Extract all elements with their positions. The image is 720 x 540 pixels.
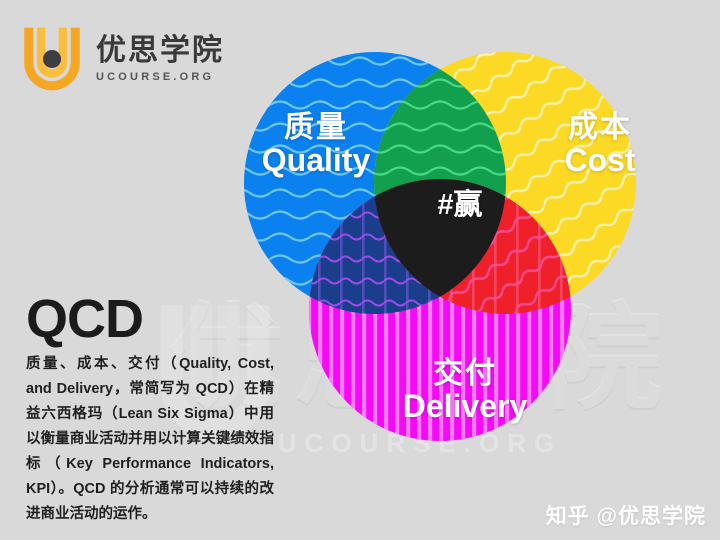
- page-title: QCD: [26, 292, 143, 346]
- brand-logo: 优思学院 UCOURSE.ORG: [20, 24, 224, 94]
- brand-name-cn: 优思学院: [96, 35, 224, 67]
- venn-diagram: [230, 28, 650, 474]
- slide-canvas: 优思学院 UCOURSE.ORG 优思学院 UCOURSE.ORG QCD 质量…: [0, 0, 720, 540]
- venn-diagram-svg: [230, 28, 650, 474]
- zhihu-watermark: 知乎 @优思学院: [546, 500, 706, 530]
- brand-logo-text: 优思学院 UCOURSE.ORG: [96, 35, 224, 83]
- brand-name-en: UCOURSE.ORG: [96, 71, 224, 83]
- u-course-logo-icon: [20, 24, 84, 94]
